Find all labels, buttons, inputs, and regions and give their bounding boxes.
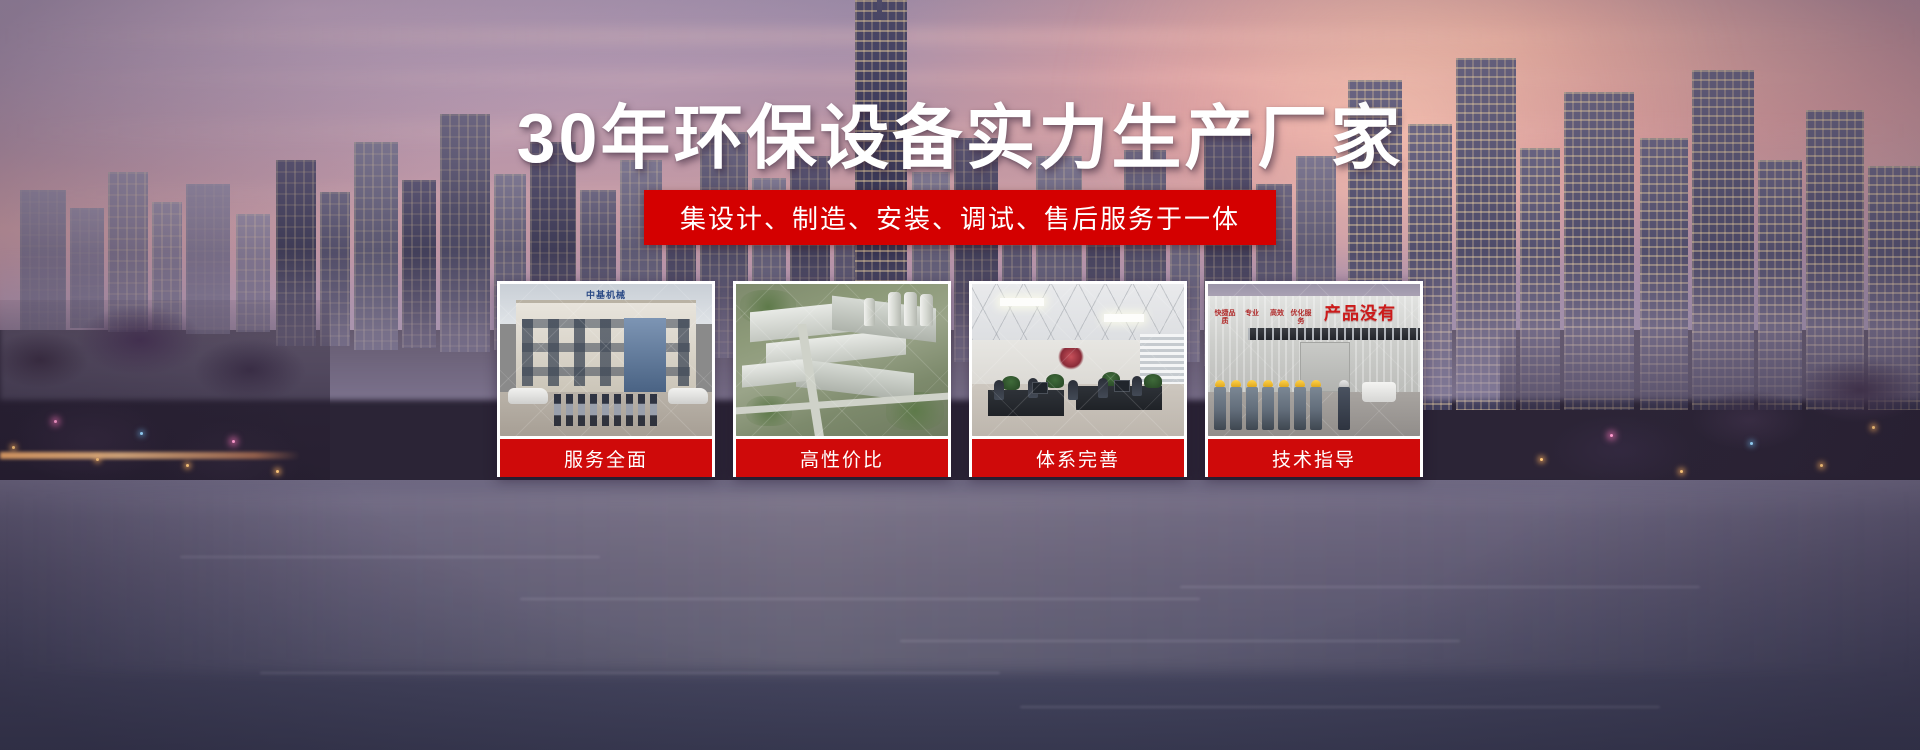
tower-spire [877,0,882,20]
factory-slogan-text: 高效 [1266,310,1288,318]
card-caption: 技术指导 [1208,439,1420,477]
page-title: 30年环保设备实力生产厂家 [0,103,1920,173]
factory-banner-text: 产品没有 [1304,298,1416,324]
hero-banner: 30年环保设备实力生产厂家 集设计、制造、安装、调试、售后服务于一体 中基机械 [0,0,1920,750]
feature-card[interactable]: 高性价比 [733,281,951,477]
card-caption: 高性价比 [736,439,948,477]
building-sign-text: 中基机械 [558,288,654,301]
factory-slogan-text: 优化服务 [1290,310,1312,326]
subtitle-banner: 集设计、制造、安装、调试、售后服务于一体 [644,190,1276,245]
factory-slogan-text: 专业 [1242,310,1262,318]
riverside-light-strip [0,452,300,459]
aerial-plant-photo [736,284,948,436]
factory-slogan-text: 快捷品质 [1214,310,1236,326]
office-interior-photo [972,284,1184,436]
company-headquarters-photo: 中基机械 [500,284,712,436]
feature-card[interactable]: 中基机械 服务全面 [497,281,715,477]
feature-card-row: 中基机械 服务全面 [497,281,1423,477]
card-caption: 体系完善 [972,439,1184,477]
water-reflection [0,492,1920,672]
feature-card[interactable]: 体系完善 [969,281,1187,477]
feature-card[interactable]: 产品没有 快捷品质 专业 高效 优化服务 [1205,281,1423,477]
factory-workers-photo: 产品没有 快捷品质 专业 高效 优化服务 [1208,284,1420,436]
card-caption: 服务全面 [500,439,712,477]
